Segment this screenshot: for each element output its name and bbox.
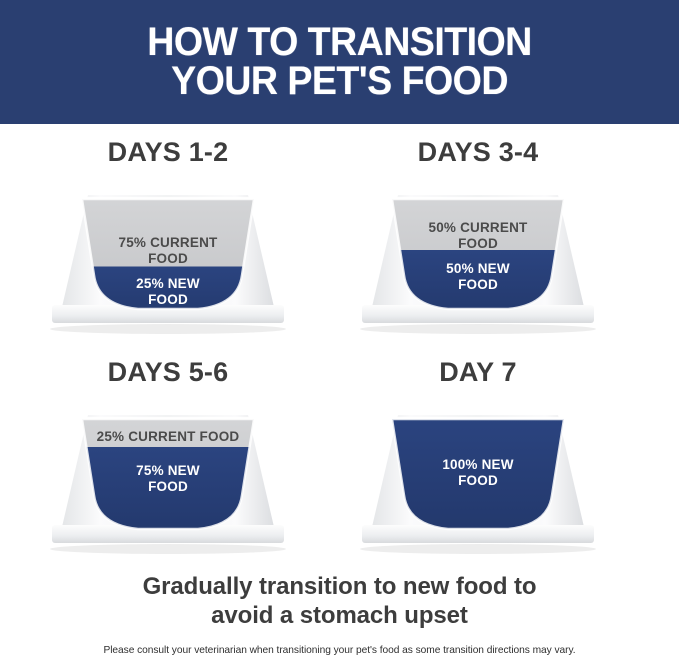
footer-headline-line1: Gradually transition to new food to (143, 573, 537, 600)
page-title: HOW TO TRANSITION YOUR PET'S FOOD (128, 23, 550, 101)
bowl-illustration (38, 179, 298, 339)
bowl-illustration (348, 179, 608, 339)
page-title-line2: YOUR PET'S FOOD (147, 62, 532, 101)
header-banner: HOW TO TRANSITION YOUR PET'S FOOD (0, 0, 679, 124)
step-panel-days-5-6: DAYS 5-6 (18, 355, 318, 575)
food-bowl: 100% NEW FOOD (348, 399, 608, 559)
food-bowl: 50% CURRENT FOOD 50% NEW FOOD (348, 179, 608, 339)
footer-headline: Gradually transition to new food to avoi… (0, 572, 679, 631)
step-panel-days-3-4: DAYS 3-4 (328, 135, 628, 355)
footer-headline-line2: avoid a stomach upset (0, 601, 679, 630)
step-panel-days-1-2: DAYS 1-2 (18, 135, 318, 355)
page-title-line1: HOW TO TRANSITION (147, 20, 532, 64)
food-bowl: 25% CURRENT FOOD 75% NEW FOOD (38, 399, 298, 559)
step-title: DAYS 1-2 (18, 137, 318, 168)
bowl-illustration (348, 399, 608, 559)
step-title: DAYS 3-4 (328, 137, 628, 168)
food-bowl: 75% CURRENT FOOD 25% NEW FOOD (38, 179, 298, 339)
step-panel-day-7: DAY 7 (328, 355, 628, 575)
transition-steps-grid: DAYS 1-2 (0, 130, 679, 570)
bowl-illustration (38, 399, 298, 559)
step-title: DAY 7 (328, 357, 628, 388)
step-title: DAYS 5-6 (18, 357, 318, 388)
footer: Gradually transition to new food to avoi… (0, 572, 679, 656)
footer-disclaimer: Please consult your veterinarian when tr… (0, 645, 679, 656)
